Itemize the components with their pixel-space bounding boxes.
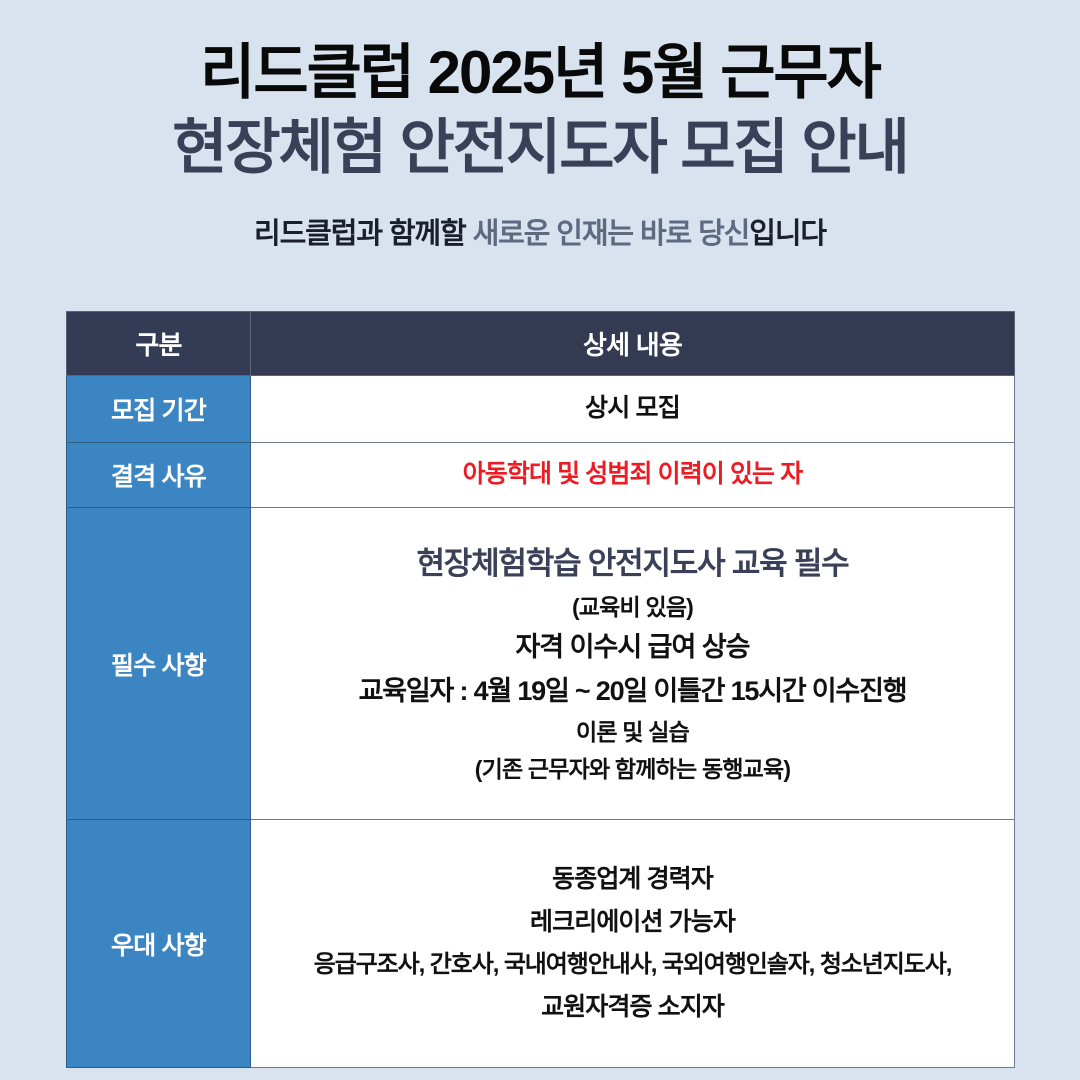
preferred-line-certifications: 응급구조사, 간호사, 국내여행안내사, 국외여행인솔자, 청소년지도사, [265, 944, 1000, 985]
row-label-requirements: 필수 사항 [67, 508, 251, 820]
preferred-line-recreation: 레크리에이션 가능자 [265, 901, 1000, 944]
table-header-row: 구분 상세 내용 [67, 312, 1015, 376]
requirement-line-training-date: 교육일자 : 4월 19일 ~ 20일 이틀간 15시간 이수진행 [265, 670, 1000, 714]
table-row: 필수 사항 현장체험학습 안전지도사 교육 필수 (교육비 있음) 자격 이수시… [67, 508, 1015, 820]
row-label-disqualification: 결격 사유 [67, 443, 251, 508]
row-label-preferred: 우대 사항 [67, 820, 251, 1068]
table-row: 결격 사유 아동학대 및 성범죄 이력이 있는 자 [67, 443, 1015, 508]
subtitle-part-1: 리드클럽과 함께할 [254, 218, 473, 250]
row-content-requirements: 현장체험학습 안전지도사 교육 필수 (교육비 있음) 자격 이수시 급여 상승… [251, 508, 1015, 820]
table-row: 모집 기간 상시 모집 [67, 376, 1015, 443]
row-content-disqualification: 아동학대 및 성범죄 이력이 있는 자 [251, 443, 1015, 508]
preferred-line-industry-experience: 동종업계 경력자 [265, 858, 1000, 901]
requirement-line-theory-practice: 이론 및 실습 [265, 714, 1000, 751]
recruitment-info-table: 구분 상세 내용 모집 기간 상시 모집 결격 사유 아동학대 및 성범죄 이력… [66, 311, 1015, 1068]
requirements-line-list: 현장체험학습 안전지도사 교육 필수 (교육비 있음) 자격 이수시 급여 상승… [265, 539, 1000, 788]
page-subtitle: 리드클럽과 함께할 새로운 인재는 바로 당신입니다 [0, 216, 1080, 254]
page-title-line-2: 현장체험 안전지도자 모집 안내 [0, 113, 1080, 182]
requirement-line-training-fee: (교육비 있음) [265, 589, 1000, 626]
table-row: 우대 사항 동종업계 경력자 레크리에이션 가능자 응급구조사, 간호사, 국내… [67, 820, 1015, 1068]
content-line: 상시 모집 [265, 390, 1000, 428]
title-block: 리드클럽 2025년 5월 근무자 현장체험 안전지도자 모집 안내 리드클럽과… [0, 0, 1080, 254]
table-header: 구분 상세 내용 [67, 312, 1015, 376]
preferred-line-teaching-license: 교원자격증 소지자 [265, 986, 1000, 1029]
subtitle-part-2: 새로운 인재는 바로 당신 [473, 218, 750, 250]
column-header-details: 상세 내용 [251, 312, 1015, 376]
requirement-line-accompanied-training: (기존 근무자와 함께하는 동행교육) [265, 751, 1000, 788]
preferred-line-list: 동종업계 경력자 레크리에이션 가능자 응급구조사, 간호사, 국내여행안내사,… [265, 858, 1000, 1028]
poster-root: 리드클럽 2025년 5월 근무자 현장체험 안전지도자 모집 안내 리드클럽과… [0, 0, 1080, 1080]
table-body: 모집 기간 상시 모집 결격 사유 아동학대 및 성범죄 이력이 있는 자 필수… [67, 376, 1015, 1068]
info-table-wrapper: 구분 상세 내용 모집 기간 상시 모집 결격 사유 아동학대 및 성범죄 이력… [66, 311, 1014, 1067]
row-content-recruitment-period: 상시 모집 [251, 376, 1015, 443]
content-line-warning: 아동학대 및 성범죄 이력이 있는 자 [265, 456, 1000, 494]
requirement-line-training-mandatory: 현장체험학습 안전지도사 교육 필수 [265, 539, 1000, 589]
row-label-recruitment-period: 모집 기간 [67, 376, 251, 443]
requirement-line-pay-raise: 자격 이수시 급여 상승 [265, 626, 1000, 670]
row-content-preferred: 동종업계 경력자 레크리에이션 가능자 응급구조사, 간호사, 국내여행안내사,… [251, 820, 1015, 1068]
subtitle-part-3: 입니다 [749, 218, 826, 250]
column-header-category: 구분 [67, 312, 251, 376]
page-title-line-1: 리드클럽 2025년 5월 근무자 [0, 38, 1080, 107]
